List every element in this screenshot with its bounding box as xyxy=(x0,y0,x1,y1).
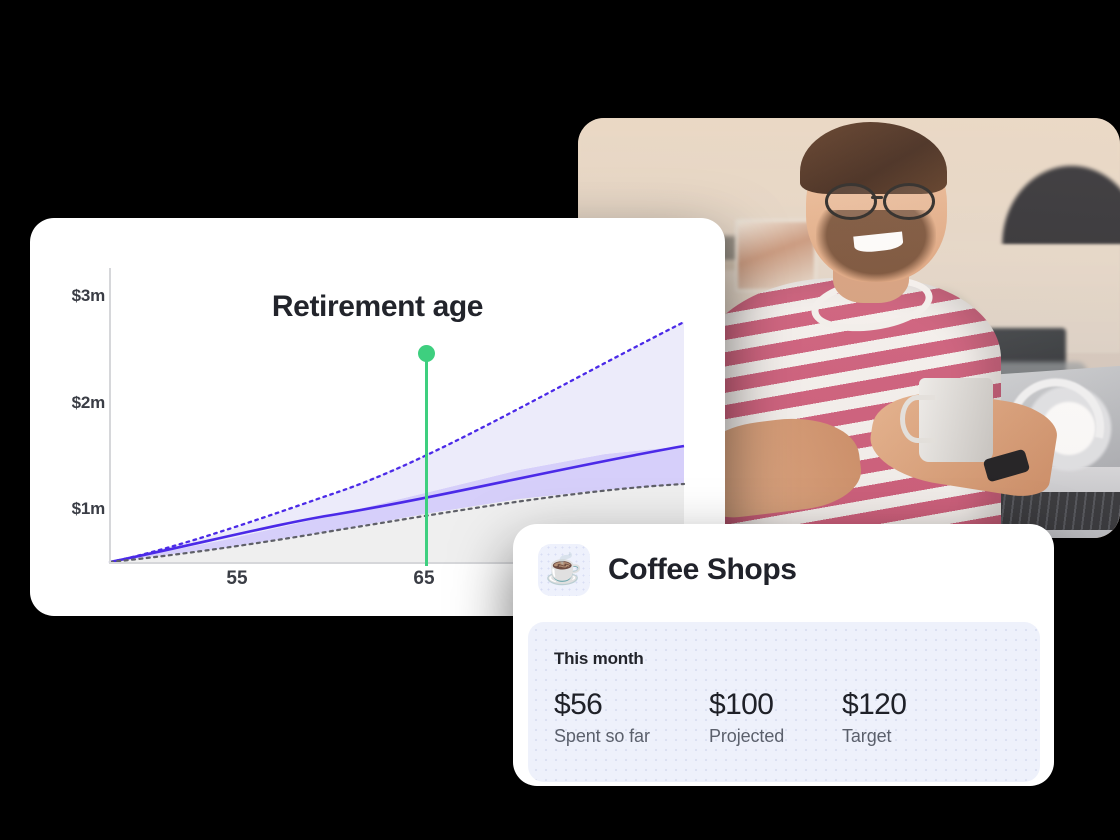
stats-row: $56 Spent so far $100 Projected $120 Tar… xyxy=(554,688,962,747)
stat-spent-so-far: $56 Spent so far xyxy=(554,688,709,747)
stat-target: $120 Target xyxy=(842,688,962,747)
x-tick-55: 55 xyxy=(207,568,267,590)
photo-eyeglass-left xyxy=(825,183,878,220)
stat-projected: $100 Projected xyxy=(709,688,842,747)
composition-stage: $3m $2m $1m 55 65 Retirement age ☕ Coffe… xyxy=(0,0,1120,840)
x-tick-65: 65 xyxy=(394,568,454,590)
stat-label: Projected xyxy=(709,726,842,747)
stat-value: $56 xyxy=(554,688,709,722)
photo-eyeglass-right xyxy=(883,183,936,220)
coffee-shops-card: ☕ Coffee Shops This month $56 Spent so f… xyxy=(513,524,1054,786)
retirement-age-marker-line xyxy=(425,352,428,566)
coffee-cup-icon: ☕ xyxy=(538,544,590,596)
photo-mug-handle xyxy=(900,395,935,443)
chart-title: Retirement age xyxy=(30,290,725,324)
stat-value: $100 xyxy=(709,688,842,722)
photo-eyeglass-bridge xyxy=(871,196,883,199)
coffee-card-header: ☕ Coffee Shops xyxy=(538,544,797,596)
stat-label: Spent so far xyxy=(554,726,709,747)
coffee-card-title: Coffee Shops xyxy=(608,553,797,587)
retirement-age-marker-dot[interactable] xyxy=(418,345,435,362)
stats-period-label: This month xyxy=(554,649,644,669)
monthly-stats-panel: This month $56 Spent so far $100 Project… xyxy=(528,622,1040,782)
stat-value: $120 xyxy=(842,688,962,722)
photo-lamp xyxy=(990,152,1120,244)
y-tick-2m: $2m xyxy=(35,393,105,413)
stat-label: Target xyxy=(842,726,962,747)
y-tick-1m: $1m xyxy=(35,499,105,519)
